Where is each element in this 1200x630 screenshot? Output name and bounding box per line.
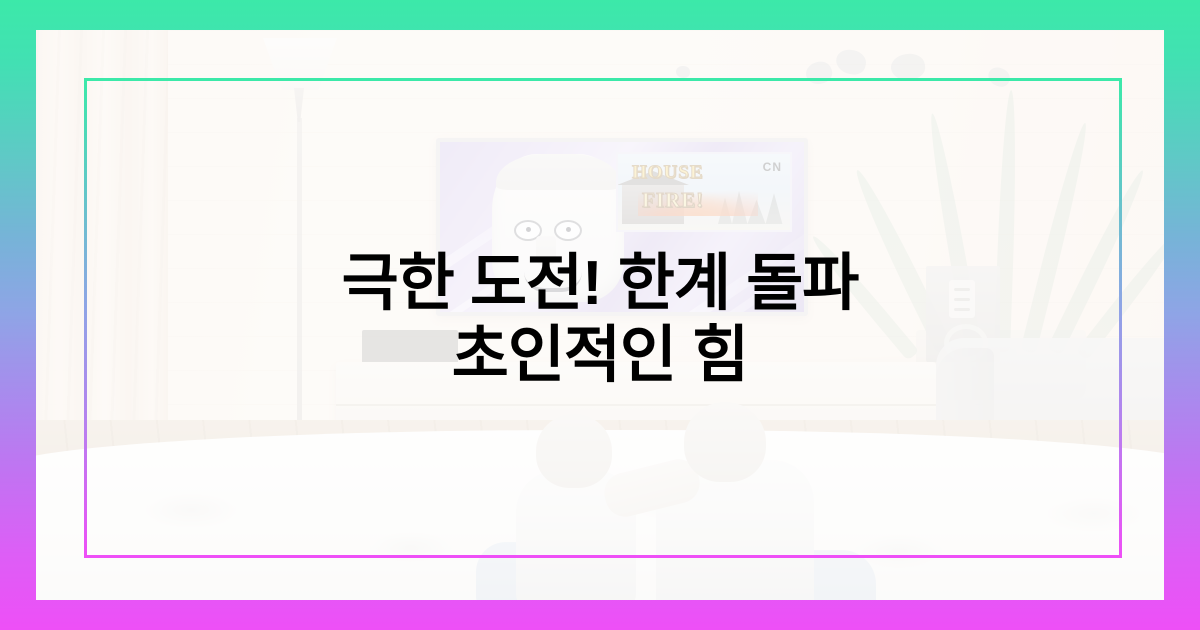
child-left-head <box>536 414 612 488</box>
media-device <box>362 330 458 364</box>
news-headline-line1: HOUSE <box>632 162 704 184</box>
photo-frame: HOUSE FIRE! CN <box>36 30 1164 600</box>
cartoon-anchor-mouth <box>524 272 582 292</box>
cartoon-anchor-face <box>492 154 624 302</box>
child-right-head <box>684 402 766 482</box>
cartoon-anchor-eye-right <box>554 220 582 241</box>
news-headline-line2: FIRE! <box>642 188 704 213</box>
wall-decal-icon <box>676 66 690 78</box>
speaker-controls <box>949 280 975 318</box>
cartoon-anchor-nose <box>536 236 556 266</box>
console-divider <box>336 404 936 406</box>
channel-logo: CN <box>763 160 782 174</box>
cartoon-anchor-hair <box>496 154 620 190</box>
television: HOUSE FIRE! CN <box>436 138 808 316</box>
tv-screen: HOUSE FIRE! CN <box>440 142 804 312</box>
news-insert-graphic: HOUSE FIRE! CN <box>616 152 792 232</box>
background-photo: HOUSE FIRE! CN <box>36 30 1164 600</box>
promo-card: HOUSE FIRE! CN <box>0 0 1200 630</box>
